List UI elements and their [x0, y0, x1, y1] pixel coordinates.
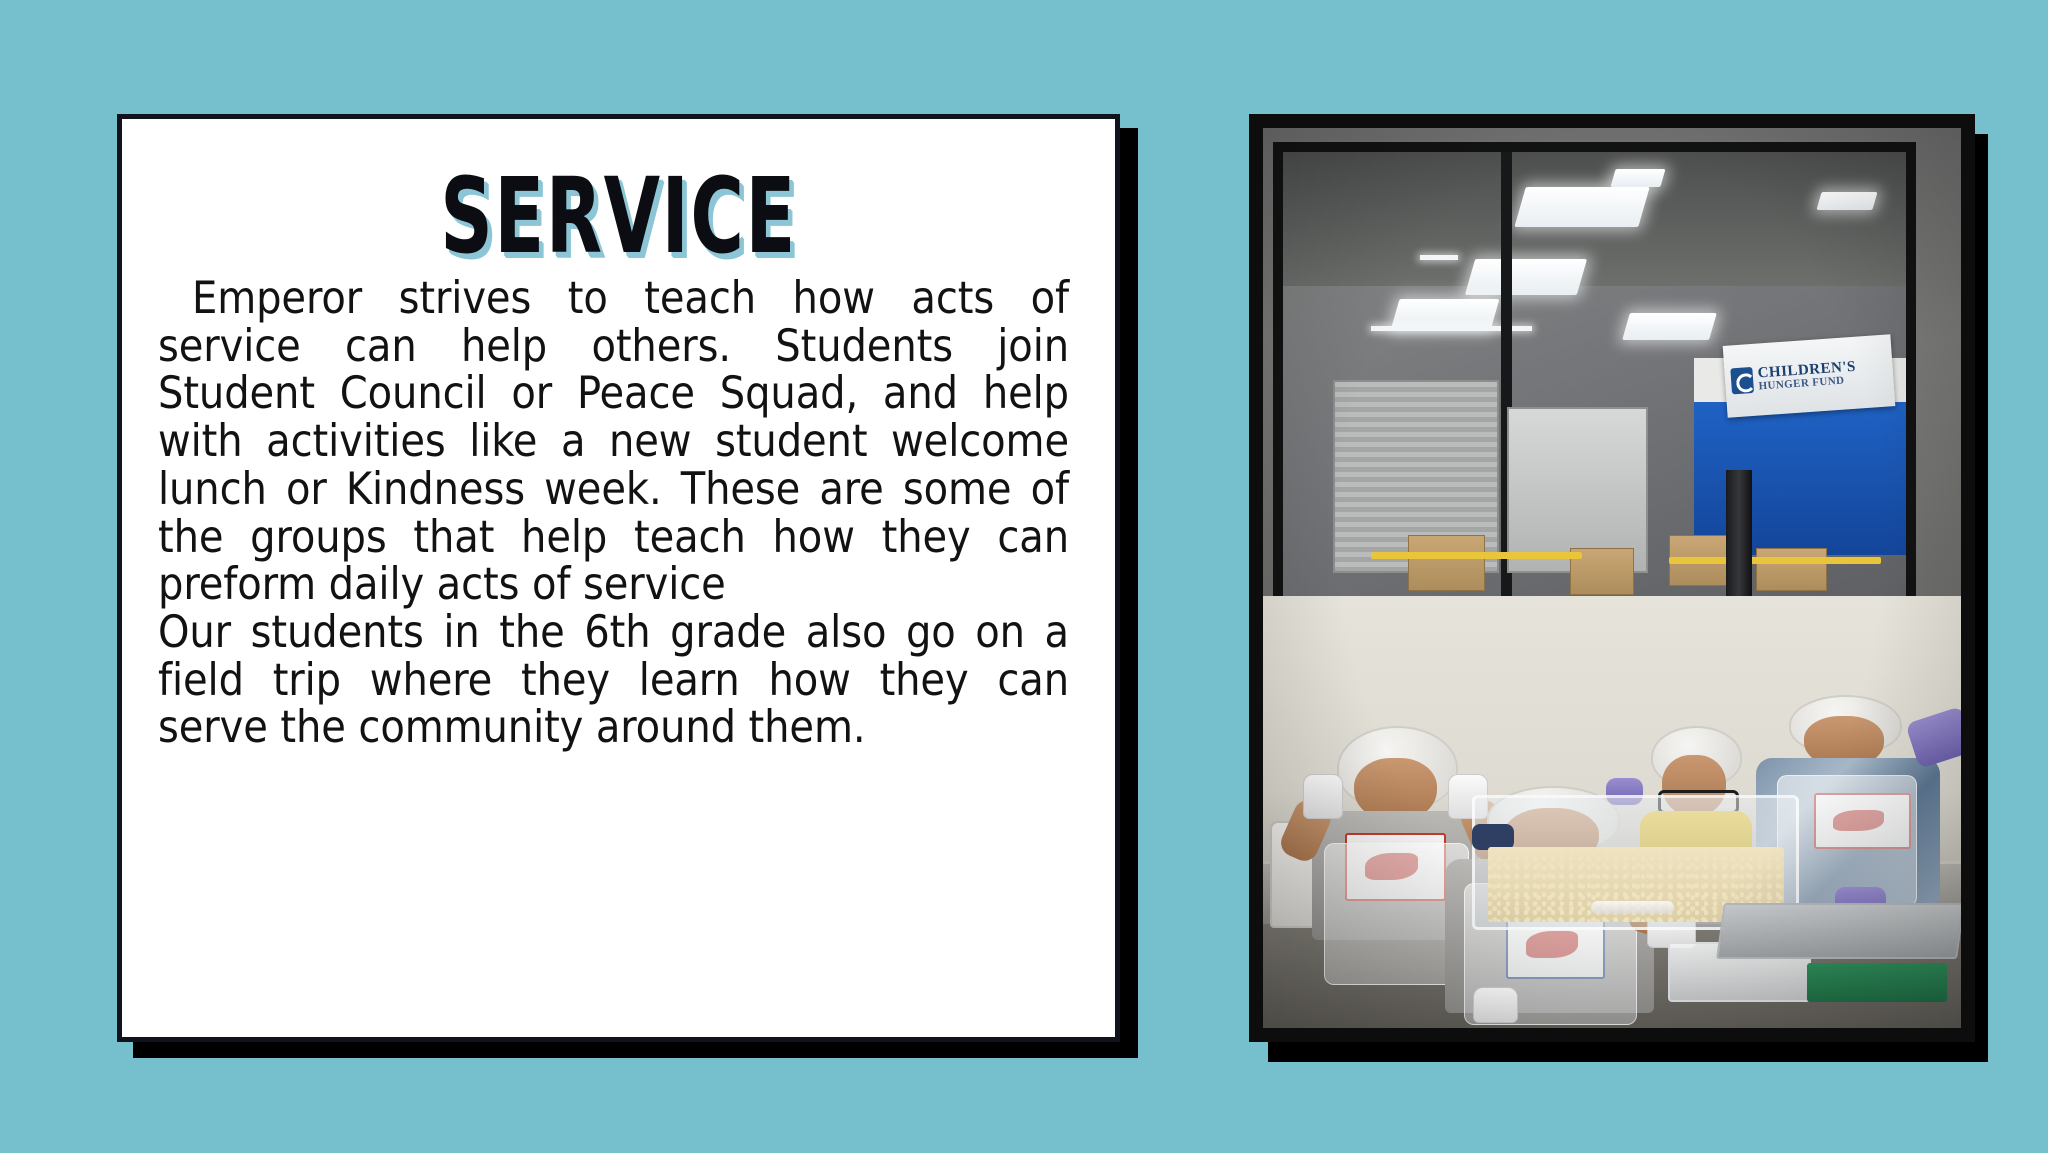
cardboard-box	[1408, 535, 1485, 591]
glove-icon	[1303, 774, 1343, 819]
ceiling-light-icon	[1622, 313, 1717, 340]
text-card: SERVICE Emperor strives to teach how act…	[117, 114, 1120, 1042]
cardboard-box	[1756, 548, 1826, 590]
safety-rail	[1371, 552, 1583, 559]
photo-window-frame: CHILDREN'S HUNGER FUND	[1273, 142, 1915, 610]
safety-rail	[1669, 557, 1881, 564]
ceiling-light-icon	[1514, 187, 1650, 227]
bin-handle	[1472, 824, 1514, 850]
green-tray	[1807, 963, 1947, 1002]
banner-text: CHILDREN'S HUNGER FUND	[1757, 359, 1857, 392]
service-photo: CHILDREN'S HUNGER FUND	[1263, 128, 1961, 1028]
photo-room-lower	[1263, 596, 1961, 1028]
page-title: SERVICE	[440, 163, 797, 269]
glove-icon	[1473, 987, 1518, 1023]
text-card-content: SERVICE Emperor strives to teach how act…	[122, 119, 1115, 1037]
body-paragraph-2: Our students in the 6th grade also go on…	[158, 609, 1069, 752]
ceiling-light-icon	[1465, 259, 1587, 295]
ceiling-light-icon	[1611, 169, 1666, 187]
ceiling-light-bar-icon	[1420, 255, 1457, 260]
childrens-hunger-fund-banner: CHILDREN'S HUNGER FUND	[1723, 334, 1896, 417]
childrens-hunger-fund-logo-icon	[1731, 366, 1755, 393]
body-paragraph-1: Emperor strives to teach how acts of ser…	[158, 275, 1069, 609]
ceiling-light-icon	[1816, 192, 1877, 210]
slide-canvas: SERVICE Emperor strives to teach how act…	[0, 0, 2048, 1153]
body-text-block: Emperor strives to teach how acts of ser…	[158, 275, 1069, 752]
scoop-icon	[1591, 901, 1674, 914]
page-title-wrapper: SERVICE	[158, 163, 1069, 269]
photo-card: CHILDREN'S HUNGER FUND	[1249, 114, 1975, 1042]
steel-tray	[1716, 903, 1961, 959]
